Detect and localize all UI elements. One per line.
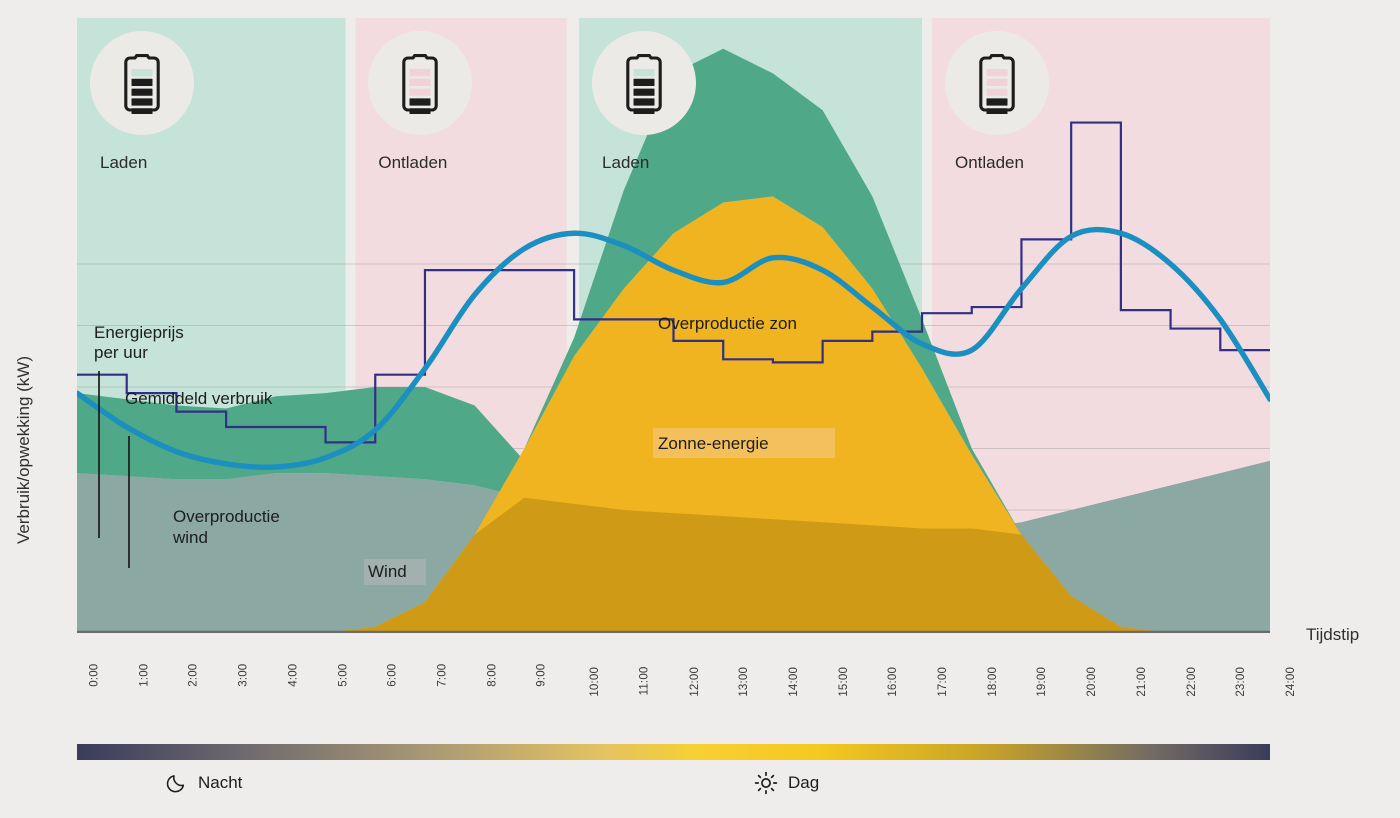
annotation-wind: Wind — [368, 562, 407, 581]
x-tick-label: 13:00 — [738, 652, 750, 682]
annotation-overproductie-wind-line2: wind — [172, 528, 208, 547]
x-tick-label: 19:00 — [1036, 652, 1048, 682]
x-tick-label: 10:00 — [589, 652, 601, 682]
annotation-zonne-energie: Zonne-energie — [658, 434, 769, 453]
annotation-overproductie-wind-line1: Overproductie — [173, 507, 280, 526]
day-night-gradient-bar — [77, 744, 1270, 760]
sun-icon — [753, 770, 779, 796]
annotation-overproductie-zon: Overproductie zon — [658, 314, 797, 333]
x-tick-label: 0:00 — [89, 652, 101, 675]
x-axis-title: Tijdstip — [1306, 625, 1359, 645]
x-tick-label: 11:00 — [638, 652, 650, 681]
y-axis-title: Verbruik/opwekking (kW) — [14, 260, 34, 640]
chart-stage: Verbruik/opwekking (kW) Tijdstip — [0, 0, 1400, 818]
legend-day-label: Dag — [788, 773, 819, 793]
annotation-gemiddeld-verbruik: Gemiddeld verbruik — [125, 389, 273, 408]
x-tick-label: 7:00 — [437, 652, 449, 675]
x-tick-label: 18:00 — [987, 652, 999, 682]
legend-day: Dag — [753, 770, 819, 796]
moon-icon — [163, 770, 189, 796]
x-tick-label: 24:00 — [1285, 652, 1297, 682]
x-tick-label: 12:00 — [688, 652, 700, 682]
x-tick-label: 16:00 — [887, 652, 899, 682]
x-tick-label: 22:00 — [1185, 652, 1197, 682]
x-tick-label: 1:00 — [138, 652, 150, 675]
x-tick-label: 14:00 — [788, 652, 800, 682]
x-tick-label: 23:00 — [1235, 652, 1247, 682]
x-tick-label: 9:00 — [536, 652, 548, 675]
x-tick-label: 2:00 — [188, 652, 200, 675]
x-tick-label: 3:00 — [238, 652, 250, 675]
x-tick-label: 21:00 — [1136, 652, 1148, 682]
chart-plot-area: Energieprijs per uur Gemiddeld verbruik … — [77, 18, 1270, 633]
legend-night-label: Nacht — [198, 773, 242, 793]
x-tick-label: 17:00 — [937, 652, 949, 682]
x-tick-label: 4:00 — [287, 652, 299, 675]
legend-night: Nacht — [163, 770, 242, 796]
x-tick-label: 6:00 — [387, 652, 399, 675]
x-tick-label: 5:00 — [337, 652, 349, 675]
x-tick-label: 8:00 — [486, 652, 498, 675]
annotation-energieprijs-line1: Energieprijs — [94, 323, 184, 342]
x-tick-label: 15:00 — [838, 652, 850, 682]
x-tick-label: 20:00 — [1086, 652, 1098, 682]
annotation-energieprijs-line2: per uur — [94, 343, 148, 362]
